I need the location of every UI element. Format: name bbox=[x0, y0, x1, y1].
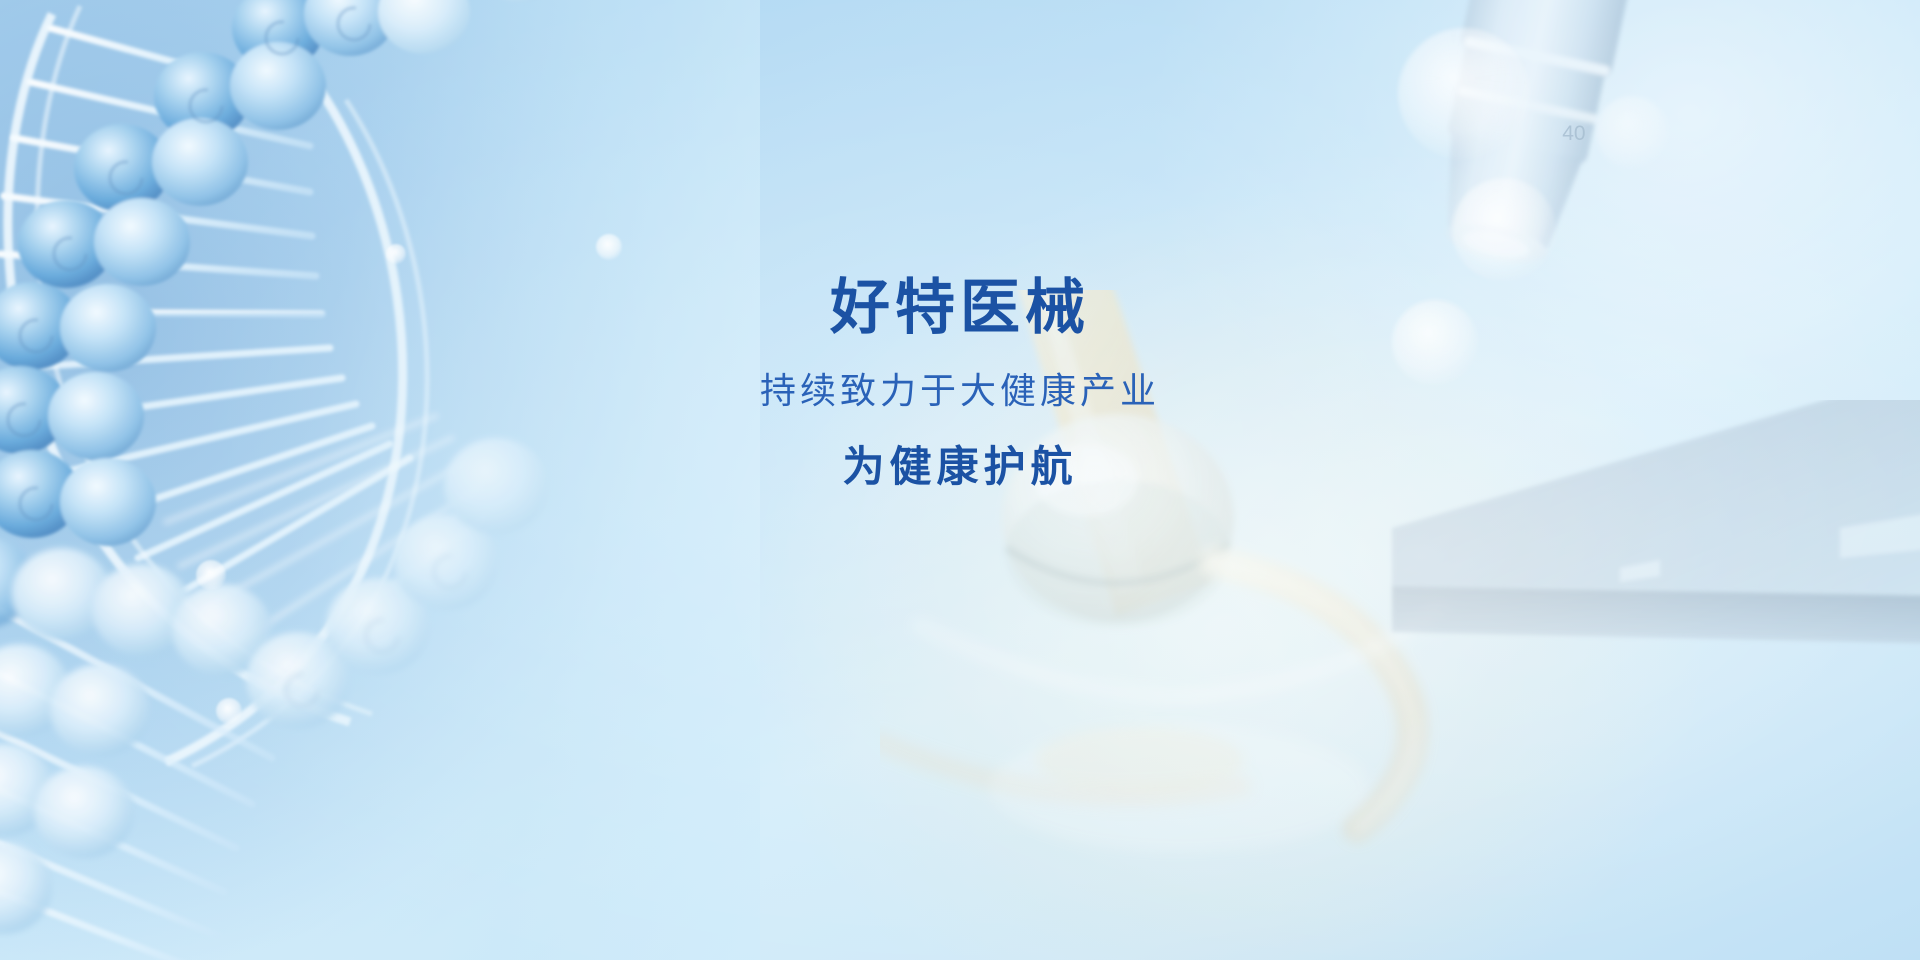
page-title: 好特医械 bbox=[0, 274, 1920, 341]
banner-subtitle: 持续致力于大健康产业 bbox=[0, 369, 1920, 412]
banner-text-block: 好特医械 持续致力于大健康产业 为健康护航 bbox=[0, 274, 1920, 493]
hero-banner: 40 bbox=[0, 0, 1920, 960]
banner-tagline: 为健康护航 bbox=[0, 442, 1920, 492]
